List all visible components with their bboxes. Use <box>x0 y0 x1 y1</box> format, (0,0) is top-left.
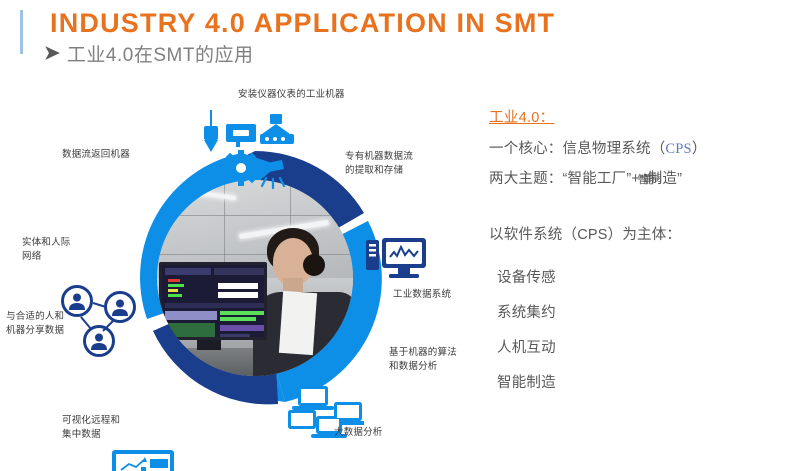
photo-screen-row <box>168 294 182 297</box>
title-accent-bar <box>20 10 23 54</box>
photo-screen-row <box>168 279 180 282</box>
photo-screen-row <box>165 323 215 339</box>
diagram-label-right: 工业数据系统 <box>393 288 451 302</box>
photo-person-bun <box>303 254 325 276</box>
list-item: 智能制造 <box>497 371 807 392</box>
software-core-line: 以软件系统（CPS）为主体： <box>489 223 807 244</box>
diagram-label-left-upper: 实体和人际 网络 <box>22 236 71 264</box>
two-themes-line: 两大主题：“智能工厂”+“智能“智能“智能制造” <box>489 167 807 188</box>
chevron-right-icon: ➤ <box>44 44 60 63</box>
core-concept-line: 一个核心：信息物理系统（CPS） <box>489 137 807 158</box>
photo-person-shirt <box>279 291 317 355</box>
industry40-cycle-diagram: 安装仪器仪表的工业机器 数据流返回机器 专有机器数据流 的提取和存储 工业数据系… <box>0 88 480 471</box>
diagram-label-bottom-right: 基于机器的算法 和数据分析 <box>389 346 457 374</box>
subtitle-group: ➤ 工业4.0在SMT的应用 <box>44 40 253 67</box>
two-themes-prefix: 两大主题：“智能工厂”+ <box>489 171 640 187</box>
diagram-label-top-left: 数据流返回机器 <box>62 148 130 162</box>
photo-monitor <box>159 262 267 340</box>
software-core-suffix: ）为主体： <box>608 227 682 243</box>
photo-monitor-stand <box>197 340 221 350</box>
operator-at-monitor-photo <box>157 180 353 376</box>
photo-screen-row <box>220 334 250 339</box>
photo-screen-row <box>220 325 264 331</box>
photo-screen-row <box>218 283 258 289</box>
diagram-label-left-lower: 与合适的人和 机器分享数据 <box>6 310 64 338</box>
dashboard-touch-icon <box>112 450 184 471</box>
right-text-panel: 工业4.0： 一个核心：信息物理系统（CPS） 两大主题：“智能工厂”+“智能“… <box>489 106 807 406</box>
photo-screen-row <box>220 317 256 321</box>
photo-screen-row <box>218 292 258 298</box>
photo-screen-row <box>165 303 265 308</box>
photo-screen-row <box>165 311 217 320</box>
photo-screen-row <box>168 284 184 287</box>
panel-spacer <box>489 197 807 223</box>
two-themes-overlap-large: “智能 <box>640 171 648 187</box>
slide-canvas: INDUSTRY 4.0 APPLICATION IN SMT ➤ 工业4.0在… <box>0 0 812 471</box>
list-item: 人机互动 <box>497 336 807 357</box>
list-item: 系统集约 <box>497 301 807 322</box>
page-title: INDUSTRY 4.0 APPLICATION IN SMT <box>50 8 555 39</box>
gear-spark-icon <box>222 150 290 192</box>
industry40-heading: 工业4.0： <box>489 106 807 127</box>
photo-screen-row <box>165 268 211 275</box>
diagram-label-bottom-left: 可视化远程和 集中数据 <box>62 414 120 442</box>
software-core-prefix: 以软件系统（ <box>489 227 577 243</box>
two-themes-overlap-group: “智能“智能“智能 <box>640 171 648 187</box>
core-concept-prefix: 一个核心：信息物理系统（ <box>489 141 665 157</box>
list-item: 设备传感 <box>497 266 807 287</box>
core-concept-suffix: ） <box>692 141 707 157</box>
industrial-data-system-icon <box>366 236 428 284</box>
people-network-links-icon <box>61 285 141 365</box>
cps-abbrev: CPS <box>665 141 691 157</box>
photo-ceiling-line <box>157 254 353 255</box>
photo-screen-row <box>220 311 264 315</box>
photo-ceiling-line <box>157 215 353 216</box>
cps-abbrev: CPS <box>577 227 607 243</box>
photo-screen-row <box>168 289 178 292</box>
diagram-label-top: 安装仪器仪表的工业机器 <box>238 88 345 102</box>
page-subtitle: 工业4.0在SMT的应用 <box>67 40 254 67</box>
diagram-label-top-right: 专有机器数据流 的提取和存储 <box>345 150 413 178</box>
diagram-label-bottom: 大数据分析 <box>334 426 383 440</box>
photo-screen-row <box>214 268 264 275</box>
